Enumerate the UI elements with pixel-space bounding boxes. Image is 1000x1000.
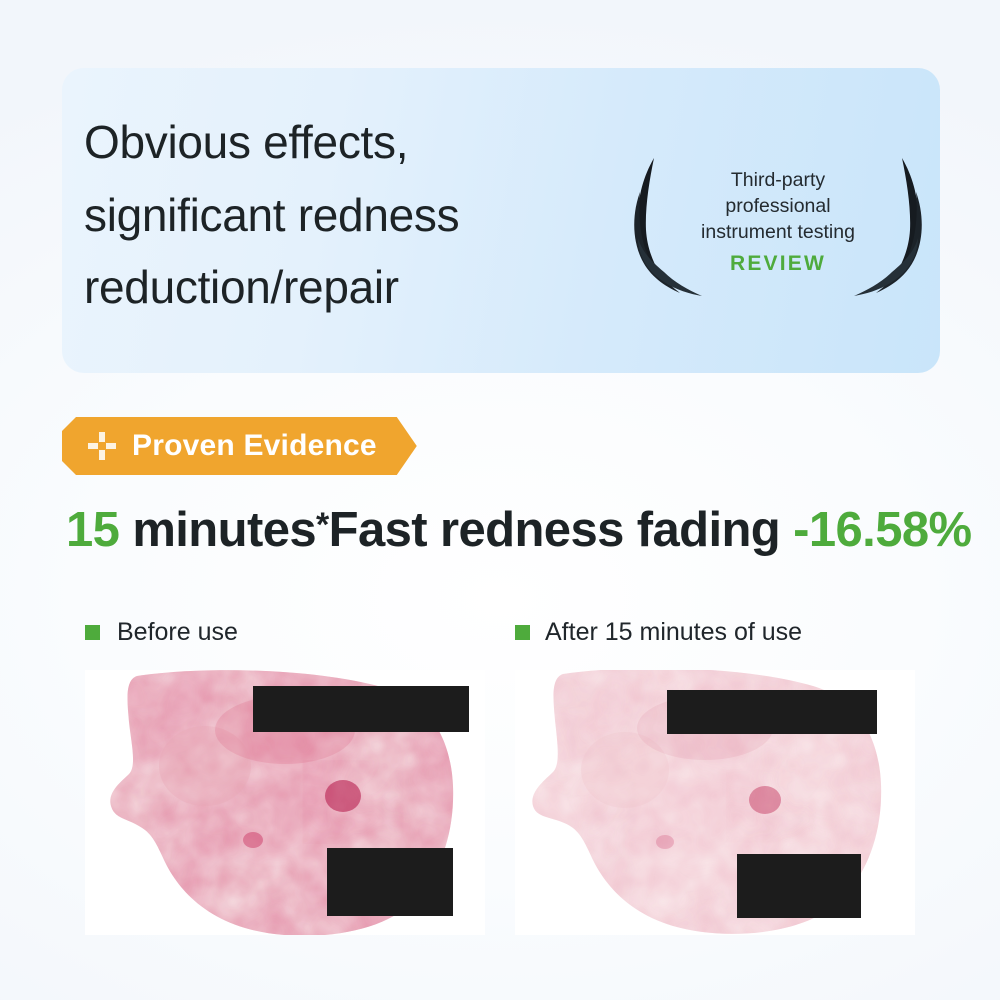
before-panel: Before use bbox=[85, 612, 485, 935]
badge-line-1: Third-party bbox=[628, 167, 928, 193]
proven-evidence-label: Proven Evidence bbox=[132, 429, 377, 463]
proven-evidence-tag-wrapper: Proven Evidence bbox=[62, 417, 417, 475]
after-caption: After 15 minutes of use bbox=[515, 612, 915, 652]
censor-bar-mouth bbox=[737, 854, 861, 918]
hero-card: Obvious effects, significant redness red… bbox=[62, 68, 940, 373]
green-square-bullet-icon bbox=[85, 625, 100, 640]
badge-line-3: instrument testing bbox=[628, 219, 928, 245]
page-title: Obvious effects, significant redness red… bbox=[84, 106, 644, 324]
badge-review-label: REVIEW bbox=[628, 252, 928, 276]
certification-badge: Third-party professional instrument test… bbox=[628, 156, 928, 296]
stat-delta: -16.58% bbox=[793, 503, 971, 557]
proven-evidence-tag: Proven Evidence bbox=[62, 417, 417, 475]
hero-title-line-1: Obvious effects, bbox=[84, 106, 644, 179]
after-caption-label: After 15 minutes of use bbox=[545, 618, 802, 647]
stat-time-unit: minutes bbox=[132, 503, 316, 557]
before-caption-label: Before use bbox=[117, 618, 238, 647]
green-square-bullet-icon bbox=[515, 625, 530, 640]
stat-time-value: 15 bbox=[66, 503, 119, 557]
hero-title-line-2: significant redness bbox=[84, 179, 644, 252]
before-after-comparison: Before use bbox=[85, 612, 920, 935]
before-photo bbox=[85, 670, 485, 935]
promo-page: Obvious effects, significant redness red… bbox=[0, 0, 1000, 1000]
after-panel: After 15 minutes of use bbox=[515, 612, 915, 935]
badge-text: Third-party professional instrument test… bbox=[628, 167, 928, 245]
censor-bar-mouth bbox=[327, 848, 453, 916]
censor-bar-eyes bbox=[667, 690, 877, 734]
stat-asterisk: * bbox=[316, 506, 329, 544]
badge-line-2: professional bbox=[628, 193, 928, 219]
hero-title-line-3: reduction/repair bbox=[84, 251, 644, 324]
stat-headline: 15 minutes*Fast redness fading -16.58% bbox=[66, 502, 966, 558]
sparkle-plus-icon bbox=[88, 432, 116, 460]
after-photo bbox=[515, 670, 915, 935]
censor-bar-eyes bbox=[253, 686, 469, 732]
before-caption: Before use bbox=[85, 612, 485, 652]
stat-claim: Fast redness fading bbox=[329, 503, 781, 557]
